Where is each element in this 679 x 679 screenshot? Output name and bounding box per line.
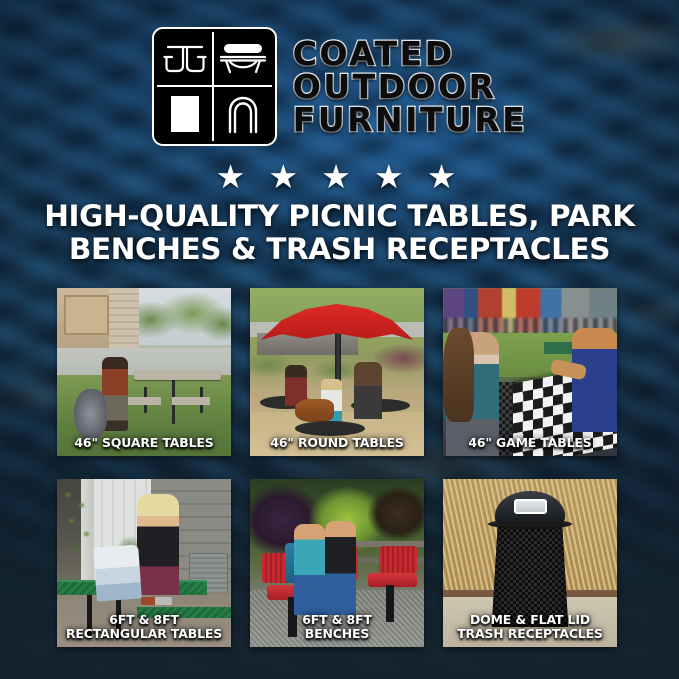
picnic-table-icon [157,32,215,87]
product-tile-trash-receptacles[interactable]: DOME & FLAT LID TRASH RECEPTACLES [443,479,617,647]
caption-line-2: BENCHES [253,627,421,640]
logo-word-furniture: FURNITURE [293,104,527,136]
caption-line-1: 46" GAME TABLES [446,436,614,449]
logo-word-outdoor: OUTDOOR [293,71,497,103]
star-rating: ★ ★ ★ ★ ★ [0,160,679,193]
product-grid: 46" SQUARE TABLES 46" ROUND TABLES [57,288,617,647]
product-photo-game-tables [443,288,617,456]
headline-line-1: HIGH-QUALITY PICNIC TABLES, PARK [22,200,657,233]
product-caption: 46" GAME TABLES [446,436,614,449]
product-row-1: 46" SQUARE TABLES 46" ROUND TABLES [57,288,617,456]
product-caption: 6FT & 8FT BENCHES [253,613,421,640]
caption-line-1: 46" SQUARE TABLES [60,436,228,449]
product-caption: 46" SQUARE TABLES [60,436,228,449]
product-tile-square-tables[interactable]: 46" SQUARE TABLES [57,288,231,456]
page-title: HIGH-QUALITY PICNIC TABLES, PARK BENCHES… [22,200,657,266]
promo-banner: COATED OUTDOOR FURNITURE ★ ★ ★ ★ ★ HIGH-… [0,0,679,679]
caption-line-1: 46" ROUND TABLES [253,436,421,449]
brand-logo: COATED OUTDOOR FURNITURE [0,27,679,146]
caption-line-2: RECTANGULAR TABLES [60,627,228,640]
product-photo-round-tables [250,288,424,456]
product-tile-round-tables[interactable]: 46" ROUND TABLES [250,288,424,456]
logo-icon-grid [152,27,277,146]
caption-line-1: 6FT & 8FT [60,613,228,626]
caption-line-2: TRASH RECEPTACLES [446,627,614,640]
product-row-2: 6FT & 8FT RECTANGULAR TABLES 6FT & [57,479,617,647]
headline-line-2: BENCHES & TRASH RECEPTACLES [22,233,657,266]
caption-line-1: 6FT & 8FT [253,613,421,626]
product-tile-game-tables[interactable]: 46" GAME TABLES [443,288,617,456]
product-caption: DOME & FLAT LID TRASH RECEPTACLES [446,613,614,640]
product-tile-benches[interactable]: 6FT & 8FT BENCHES [250,479,424,647]
bike-rack-icon [214,87,272,142]
bench-icon [214,32,272,87]
product-caption: 6FT & 8FT RECTANGULAR TABLES [60,613,228,640]
trash-receptacle-icon [157,87,215,142]
product-tile-rectangular-tables[interactable]: 6FT & 8FT RECTANGULAR TABLES [57,479,231,647]
logo-wordmark: COATED OUTDOOR FURNITURE [293,38,527,137]
product-caption: 46" ROUND TABLES [253,436,421,449]
product-photo-square-tables [57,288,231,456]
logo-word-coated: COATED [293,38,455,70]
caption-line-1: DOME & FLAT LID [446,613,614,626]
